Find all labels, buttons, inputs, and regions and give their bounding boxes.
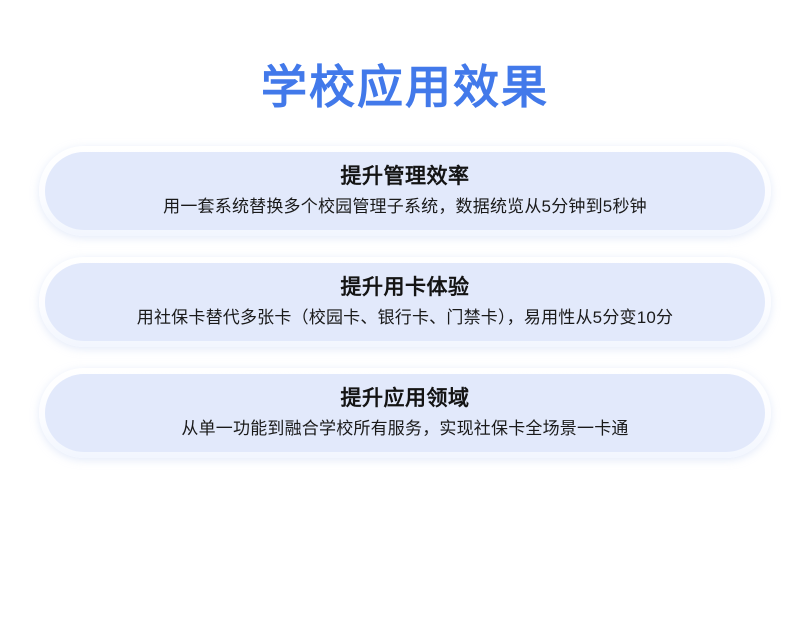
benefit-card-title: 提升应用领域 bbox=[341, 385, 470, 413]
benefit-card-description: 用一套系统替换多个校园管理子系统，数据统览从5分钟到5秒钟 bbox=[163, 194, 647, 219]
benefit-card-management-efficiency: 提升管理效率 用一套系统替换多个校园管理子系统，数据统览从5分钟到5秒钟 bbox=[45, 152, 765, 230]
benefit-card-card-experience: 提升用卡体验 用社保卡替代多张卡（校园卡、银行卡、门禁卡），易用性从5分变10分 bbox=[45, 263, 765, 341]
benefit-card-description: 用社保卡替代多张卡（校园卡、银行卡、门禁卡），易用性从5分变10分 bbox=[137, 305, 673, 330]
benefit-card-title: 提升用卡体验 bbox=[341, 274, 470, 302]
benefit-card-application-domain: 提升应用领域 从单一功能到融合学校所有服务，实现社保卡全场景一卡通 bbox=[45, 374, 765, 452]
benefit-card-list: 提升管理效率 用一套系统替换多个校园管理子系统，数据统览从5分钟到5秒钟 提升用… bbox=[0, 146, 810, 479]
benefit-card-wrapper: 提升管理效率 用一套系统替换多个校园管理子系统，数据统览从5分钟到5秒钟 bbox=[39, 146, 771, 236]
page-title: 学校应用效果 bbox=[0, 58, 810, 116]
benefit-card-wrapper: 提升应用领域 从单一功能到融合学校所有服务，实现社保卡全场景一卡通 bbox=[39, 368, 771, 458]
benefit-card-description: 从单一功能到融合学校所有服务，实现社保卡全场景一卡通 bbox=[181, 416, 628, 441]
benefit-card-title: 提升管理效率 bbox=[341, 163, 470, 191]
benefit-card-wrapper: 提升用卡体验 用社保卡替代多张卡（校园卡、银行卡、门禁卡），易用性从5分变10分 bbox=[39, 257, 771, 347]
school-application-effect-page: 学校应用效果 提升管理效率 用一套系统替换多个校园管理子系统，数据统览从5分钟到… bbox=[0, 0, 810, 622]
